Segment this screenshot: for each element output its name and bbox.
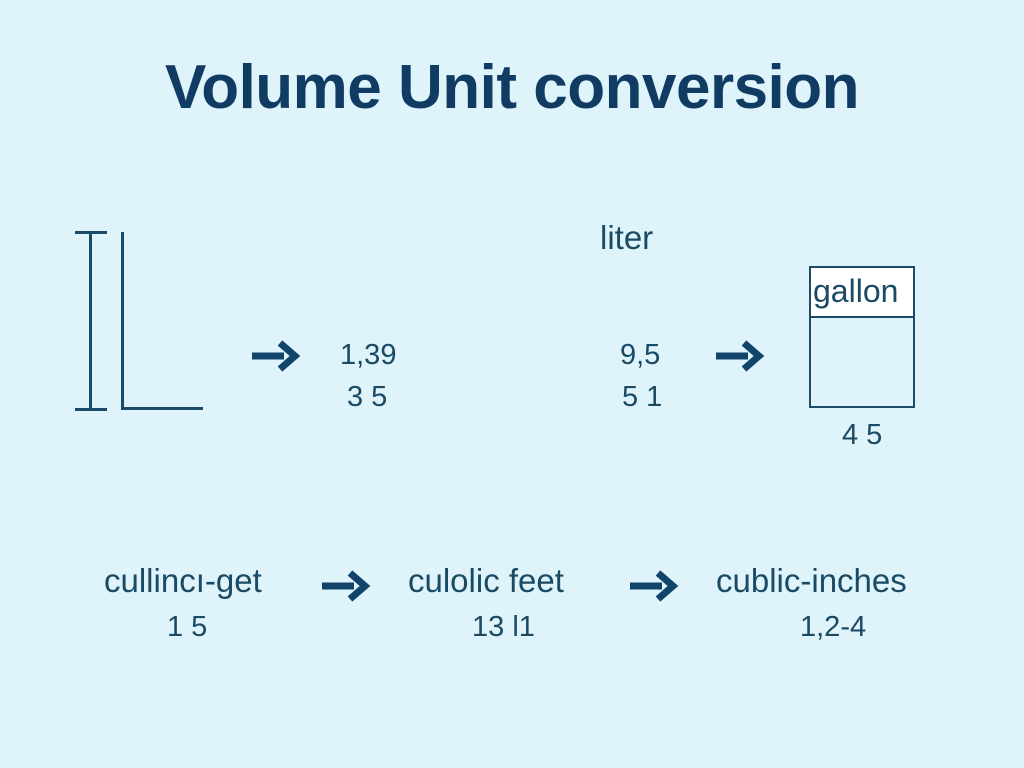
gallon-container-shape: gallon xyxy=(809,266,915,408)
i-beam-bottom-flange xyxy=(75,408,107,411)
l-shape-glyph xyxy=(121,232,203,410)
page-title: Volume Unit conversion xyxy=(0,55,1024,120)
gallon-label: gallon xyxy=(813,275,898,307)
conversion-value-2-line1: 9,5 xyxy=(620,338,660,373)
bottom-item-value-3: 1,2-4 xyxy=(800,610,866,645)
bottom-item-label-1: cullincı-get xyxy=(104,562,262,600)
bottom-item-value-2: 13 l1 xyxy=(472,610,535,645)
gallon-value: 4 5 xyxy=(842,418,882,453)
i-beam-stem xyxy=(89,231,92,411)
bottom-item-label-2: culolic feet xyxy=(408,562,564,600)
arrow-right-icon xyxy=(250,339,302,373)
slide-canvas: Volume Unit conversion 1,39 3 5 liter 9,… xyxy=(0,0,1024,768)
conversion-value-1-line2: 3 5 xyxy=(347,380,387,415)
i-beam-glyph xyxy=(75,231,107,411)
arrow-right-icon xyxy=(628,569,680,603)
arrow-right-icon xyxy=(320,569,372,603)
l-shape-horizontal xyxy=(121,407,203,410)
bottom-item-label-3: cublic-inches xyxy=(716,562,907,600)
l-shape-vertical xyxy=(121,232,124,410)
bottom-conversion-chain: cullincı-get 1 5 culolic feet 13 l1 cubl… xyxy=(0,562,1024,662)
conversion-value-2-line2: 5 1 xyxy=(622,380,662,415)
arrow-right-icon xyxy=(714,339,766,373)
conversion-value-1-line1: 1,39 xyxy=(340,338,396,373)
liter-label: liter xyxy=(600,219,653,257)
bottom-item-value-1: 1 5 xyxy=(167,610,207,645)
